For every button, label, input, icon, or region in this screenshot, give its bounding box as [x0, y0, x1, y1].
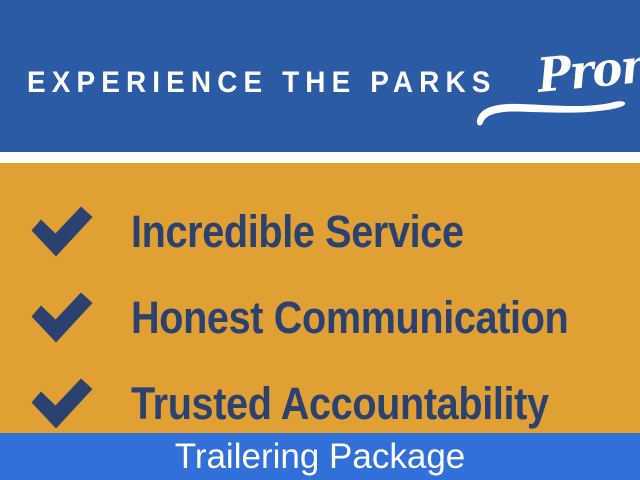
- header-banner: EXPERIENCE THE PARKS Promise: [0, 0, 640, 152]
- promise-item-label: Trusted Accountability: [131, 378, 549, 430]
- checkmark-icon: [31, 292, 93, 344]
- divider-band: [0, 152, 640, 163]
- caption-text: Trailering Package: [175, 435, 466, 479]
- list-item: Incredible Service: [0, 203, 640, 261]
- promise-graphic: EXPERIENCE THE PARKS Promise Incredible …: [0, 0, 640, 480]
- promise-body: Incredible Service Honest Communication …: [0, 163, 640, 433]
- caption-banner: Trailering Package: [0, 433, 640, 480]
- list-item: Trusted Accountability: [0, 375, 640, 433]
- script-underline-swash-icon: [474, 100, 626, 126]
- promise-item-label: Honest Communication: [131, 292, 568, 344]
- checkmark-icon: [31, 378, 93, 430]
- checkmark-icon: [31, 206, 93, 258]
- header-script-word: Promise: [535, 33, 640, 102]
- header-lockup: EXPERIENCE THE PARKS Promise: [27, 52, 640, 102]
- promise-item-label: Incredible Service: [131, 206, 464, 258]
- header-kicker-text: EXPERIENCE THE PARKS: [27, 64, 497, 102]
- list-item: Honest Communication: [0, 289, 640, 347]
